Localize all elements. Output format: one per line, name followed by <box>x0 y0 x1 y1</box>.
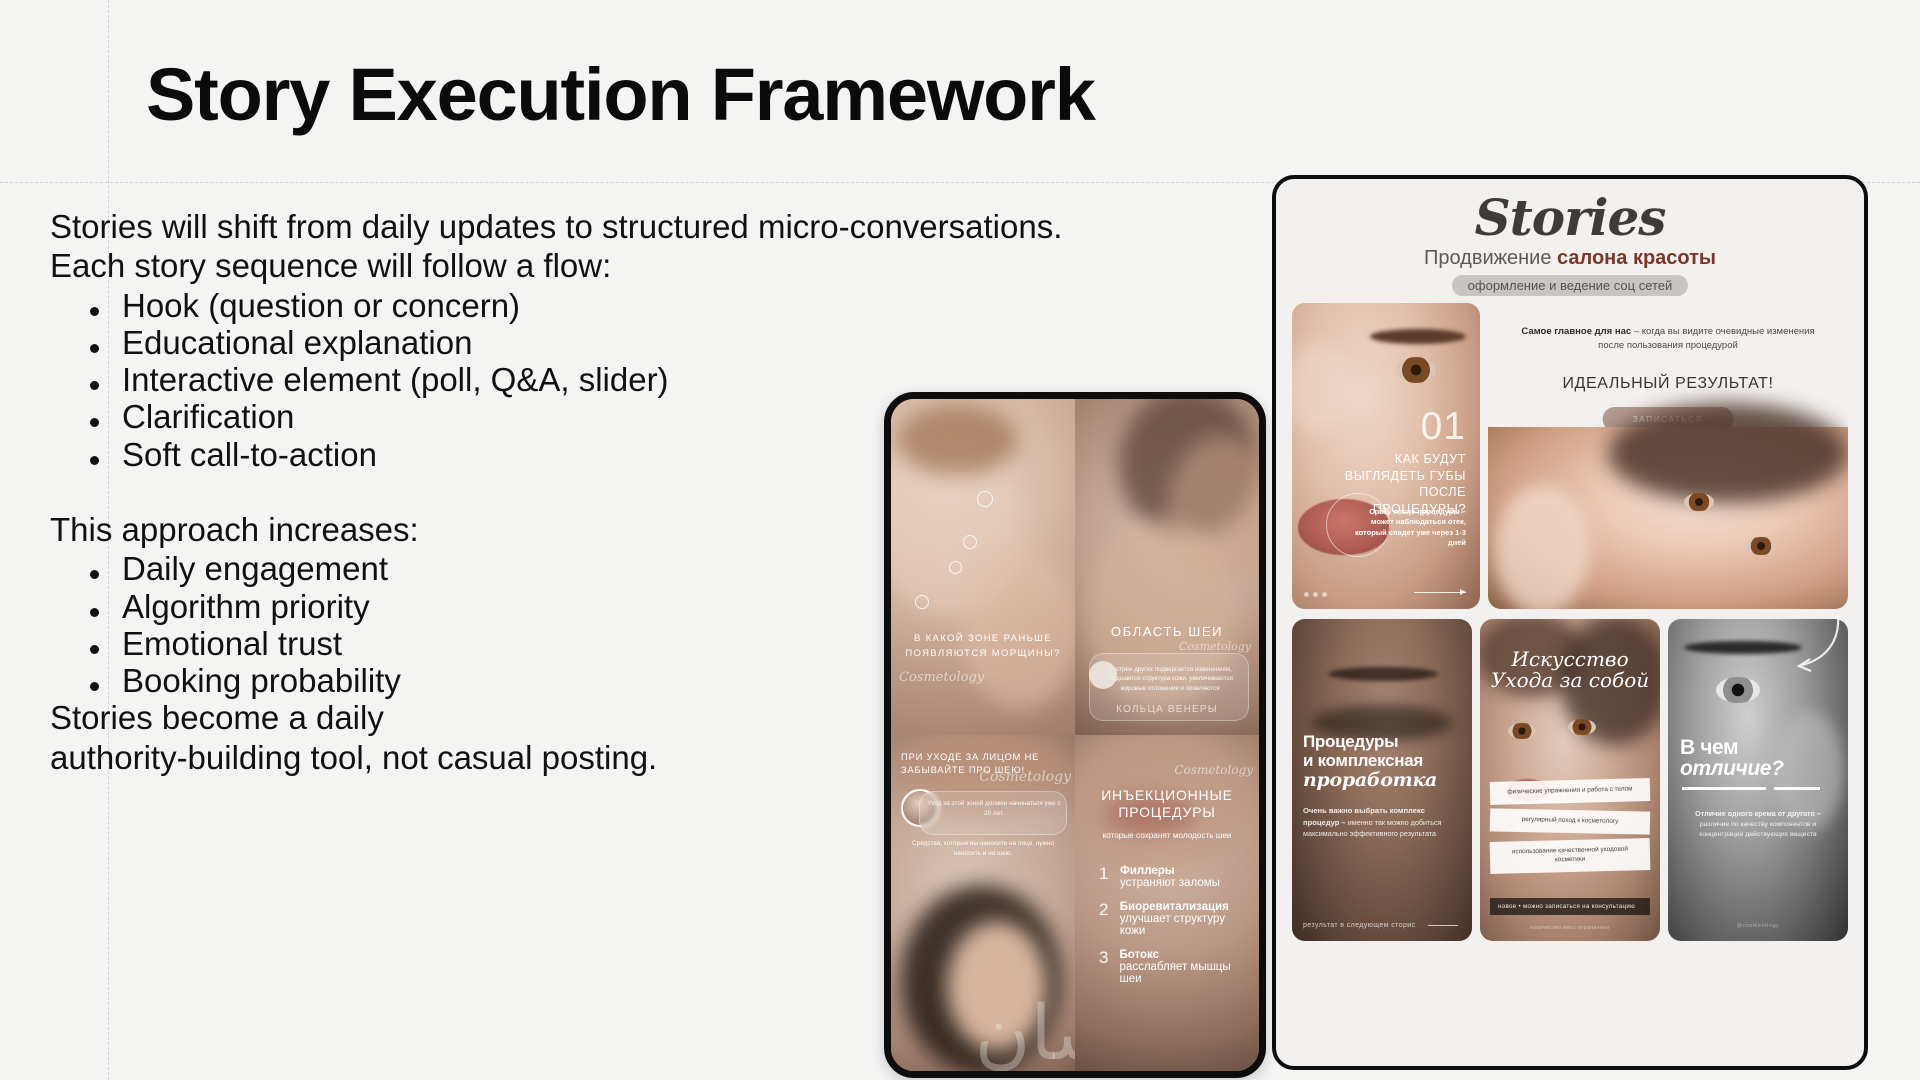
list-item: 2 Биоревитализация улучшает структуру ко… <box>1099 901 1251 937</box>
script-watermark: Cosmetology <box>899 670 1075 685</box>
pagination-dots <box>1304 592 1327 597</box>
list-title: Ботокс <box>1120 949 1251 961</box>
story-numbered-list: 1 Филлеры устраняют заломы 2 Биоревитали… <box>1099 865 1251 997</box>
card-photo <box>1488 427 1848 609</box>
list-desc: улучшает структуру кожи <box>1120 913 1251 937</box>
list-title: Филлеры <box>1120 865 1220 877</box>
story-bubble-1: Уход за этой зоной должен начинаться уже… <box>925 799 1063 818</box>
list-item: 3 Ботокс расслабляет мышцы шеи <box>1099 949 1251 985</box>
list-desc: расслабляет мышцы шеи <box>1120 961 1251 985</box>
card-body-rest: различие по качеству компонентов и конце… <box>1699 821 1816 838</box>
list-number: 2 <box>1099 901 1112 918</box>
story-card-02: Самое главное для нас – когда вы видите … <box>1488 303 1848 609</box>
card-lead-bold: Самое главное для нас <box>1521 326 1631 337</box>
curved-arrow-icon <box>1786 609 1842 679</box>
list-item: Hook (question or concern) <box>122 287 1240 324</box>
story-headline-top-left: В КАКОЙ ЗОНЕ РАНЬШЕ ПОЯВЛЯЮТСЯ МОРЩИНЫ? <box>891 632 1075 661</box>
presentation-board: Stories Продвижение салона красоты оформ… <box>1272 175 1868 1070</box>
story-card-01: 01 КАК БУДУТ ВЫГЛЯДЕТЬ ГУБЫ ПОСЛЕ ПРОЦЕД… <box>1292 303 1480 609</box>
story-panel-bottom-right: Cosmetology ИНЪЕКЦИОННЫЕ ПРОЦЕДУРЫ котор… <box>1075 735 1259 1071</box>
story-subhead-bottom-right: которые сохранят молодость шеи <box>1079 831 1255 840</box>
list-number: 1 <box>1099 865 1112 882</box>
card-lead-rest: – когда вы видите очевидные изменения по… <box>1598 326 1814 351</box>
card-body-bold: Отличие одного крема от другого – <box>1695 809 1821 818</box>
brand-subtitle-plain: Продвижение <box>1424 247 1557 269</box>
story-panel-top-left: В КАКОЙ ЗОНЕ РАНЬШЕ ПОЯВЛЯЮТСЯ МОРЩИНЫ? … <box>891 399 1075 735</box>
list-desc: устраняют заломы <box>1120 877 1220 889</box>
card-headline-script: проработка <box>1303 769 1437 791</box>
story-panel-bottom-left: ПРИ УХОДЕ ЗА ЛИЦОМ НЕ ЗАБЫВАЙТЕ ПРО ШЕЮ!… <box>891 735 1075 1071</box>
card-body: Отличие одного крема от другого – различ… <box>1680 809 1836 841</box>
card-headline: В чем отличие? <box>1680 737 1784 780</box>
script-watermark: Cosmetology <box>1075 640 1251 653</box>
headline-underline-secondary <box>1774 787 1820 790</box>
list-item: Educational explanation <box>122 324 1240 361</box>
intro-line-2: Each story sequence will follow a flow: <box>50 247 1240 284</box>
intro-line-1: Stories will shift from daily updates to… <box>50 208 1240 245</box>
card-tape-list: физические упражнения и работа с телом р… <box>1490 780 1650 879</box>
card-cta-bar[interactable]: новое • можно записаться на консультацию <box>1490 898 1650 915</box>
slide-canvas: Story Execution Framework Stories will s… <box>0 0 1920 1080</box>
card-body: Сразу после процедуры – может наблюдатьс… <box>1346 507 1466 548</box>
story-bubble-2: Средства, которые вы наносите на лицо, н… <box>901 839 1065 858</box>
card-headline: ИДЕАЛЬНЫЙ РЕЗУЛЬТАТ! <box>1488 375 1848 393</box>
phone-mockup-collage: В КАКОЙ ЗОНЕ РАНЬШЕ ПОЯВЛЯЮТСЯ МОРЩИНЫ? … <box>884 392 1266 1078</box>
list-item: регулярный поход к косметологу <box>1490 808 1650 834</box>
page-title: Story Execution Framework <box>146 56 1095 134</box>
script-watermark: Cosmetology <box>1174 763 1253 777</box>
card-headline: Искусство Ухода за собой <box>1486 649 1654 691</box>
story-headline-bottom-right: ИНЪЕКЦИОННЫЕ ПРОЦЕДУРЫ <box>1079 787 1255 821</box>
card-lead: Самое главное для нас – когда вы видите … <box>1514 325 1822 354</box>
story-body-top-right: быстрее других подвергается изменениям, … <box>1097 665 1243 693</box>
card-caption: количество мест ограничено <box>1480 925 1660 931</box>
list-item: использование качественной уходовой косм… <box>1490 838 1651 874</box>
card-footer: результат в следующем сторис <box>1303 922 1416 929</box>
story-avatar-circle <box>1089 661 1117 689</box>
list-item: физические упражнения и работа с телом <box>1490 778 1651 805</box>
brand-pill: оформление и ведение соц сетей <box>1452 275 1689 296</box>
list-number: 3 <box>1099 949 1112 966</box>
brand-subtitle: Продвижение салона красоты <box>1276 247 1864 270</box>
list-item: 1 Филлеры устраняют заломы <box>1099 865 1251 889</box>
script-watermark: Cosmetology <box>979 769 1071 785</box>
arrow-icon <box>1414 592 1466 593</box>
card-number: 01 <box>1421 407 1466 446</box>
headline-underline <box>1682 787 1766 790</box>
story-panel-top-right: ОБЛАСТЬ ШЕИ Cosmetology быстрее других п… <box>1075 399 1259 735</box>
arrow-icon <box>1428 925 1458 926</box>
brand-subtitle-accent: салона красоты <box>1557 247 1716 269</box>
story-card-03: Процедуры и комплексная проработка Очень… <box>1292 619 1472 941</box>
story-footer-top-right: КОЛЬЦА ВЕНЕРЫ <box>1075 704 1259 715</box>
phone-story-grid: В КАКОЙ ЗОНЕ РАНЬШЕ ПОЯВЛЯЮТСЯ МОРЩИНЫ? … <box>891 399 1259 1071</box>
list-title: Биоревитализация <box>1120 901 1251 913</box>
card-body: Очень важно выбрать комплекс процедур – … <box>1303 805 1461 839</box>
story-card-04: Искусство Ухода за собой физические упра… <box>1480 619 1660 941</box>
story-headline-top-right: ОБЛАСТЬ ШЕИ <box>1075 624 1259 639</box>
card-headline: Процедуры и комплексная проработка <box>1303 733 1461 791</box>
board-header: Stories Продвижение салона красоты оформ… <box>1276 193 1864 296</box>
card-caption: @cosmetology <box>1668 923 1848 929</box>
brand-script-title: Stories <box>1276 193 1864 243</box>
